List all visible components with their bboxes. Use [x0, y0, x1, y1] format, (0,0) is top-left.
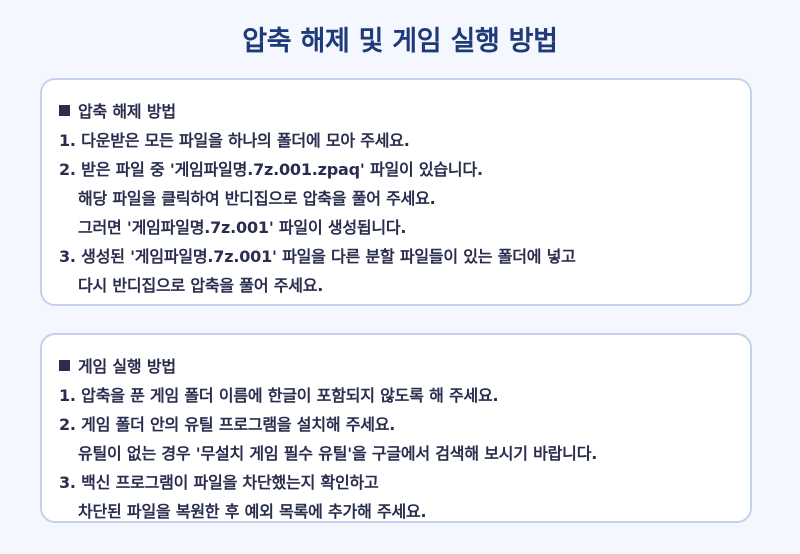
launch-step-line: 3. 백신 프로그램이 파일을 차단했는지 확인하고: [59, 468, 730, 497]
unzip-step-line: 2. 받은 파일 중 '게임파일명.7z.001.zpaq' 파일이 있습니다.: [59, 155, 730, 184]
unzip-step-line: 그러면 '게임파일명.7z.001' 파일이 생성됩니다.: [59, 213, 730, 242]
launch-step-line: 차단된 파일을 복원한 후 예외 목록에 추가해 주세요.: [59, 497, 730, 526]
unzip-card-heading: 압축 해제 방법: [59, 97, 730, 126]
unzip-step-line: 3. 생성된 '게임파일명.7z.001' 파일을 다른 분할 파일들이 있는 …: [59, 242, 730, 271]
launch-card-heading: 게임 실행 방법: [59, 352, 730, 381]
unzip-instructions-card: 압축 해제 방법 1. 다운받은 모든 파일을 하나의 폴더에 모아 주세요. …: [40, 78, 752, 306]
launch-step-line: 1. 압축을 푼 게임 폴더 이름에 한글이 포함되지 않도록 해 주세요.: [59, 381, 730, 410]
unzip-step-line: 해당 파일을 클릭하여 반디집으로 압축을 풀어 주세요.: [59, 184, 730, 213]
instructions-page: 압축 해제 및 게임 실행 방법 압축 해제 방법 1. 다운받은 모든 파일을…: [0, 0, 800, 554]
filled-square-bullet-icon: [59, 105, 70, 116]
launch-instructions-card: 게임 실행 방법 1. 압축을 푼 게임 폴더 이름에 한글이 포함되지 않도록…: [40, 333, 752, 523]
launch-step-line: 유틸이 없는 경우 '무설치 게임 필수 유틸'을 구글에서 검색해 보시기 바…: [59, 439, 730, 468]
filled-square-bullet-icon: [59, 360, 70, 371]
launch-heading-label: 게임 실행 방법: [78, 352, 176, 381]
unzip-step-line: 다시 반디집으로 압축을 풀어 주세요.: [59, 271, 730, 300]
unzip-step-line: 1. 다운받은 모든 파일을 하나의 폴더에 모아 주세요.: [59, 126, 730, 155]
unzip-heading-label: 압축 해제 방법: [78, 97, 176, 126]
launch-step-line: 2. 게임 폴더 안의 유틸 프로그램을 설치해 주세요.: [59, 410, 730, 439]
page-title: 압축 해제 및 게임 실행 방법: [0, 0, 800, 55]
